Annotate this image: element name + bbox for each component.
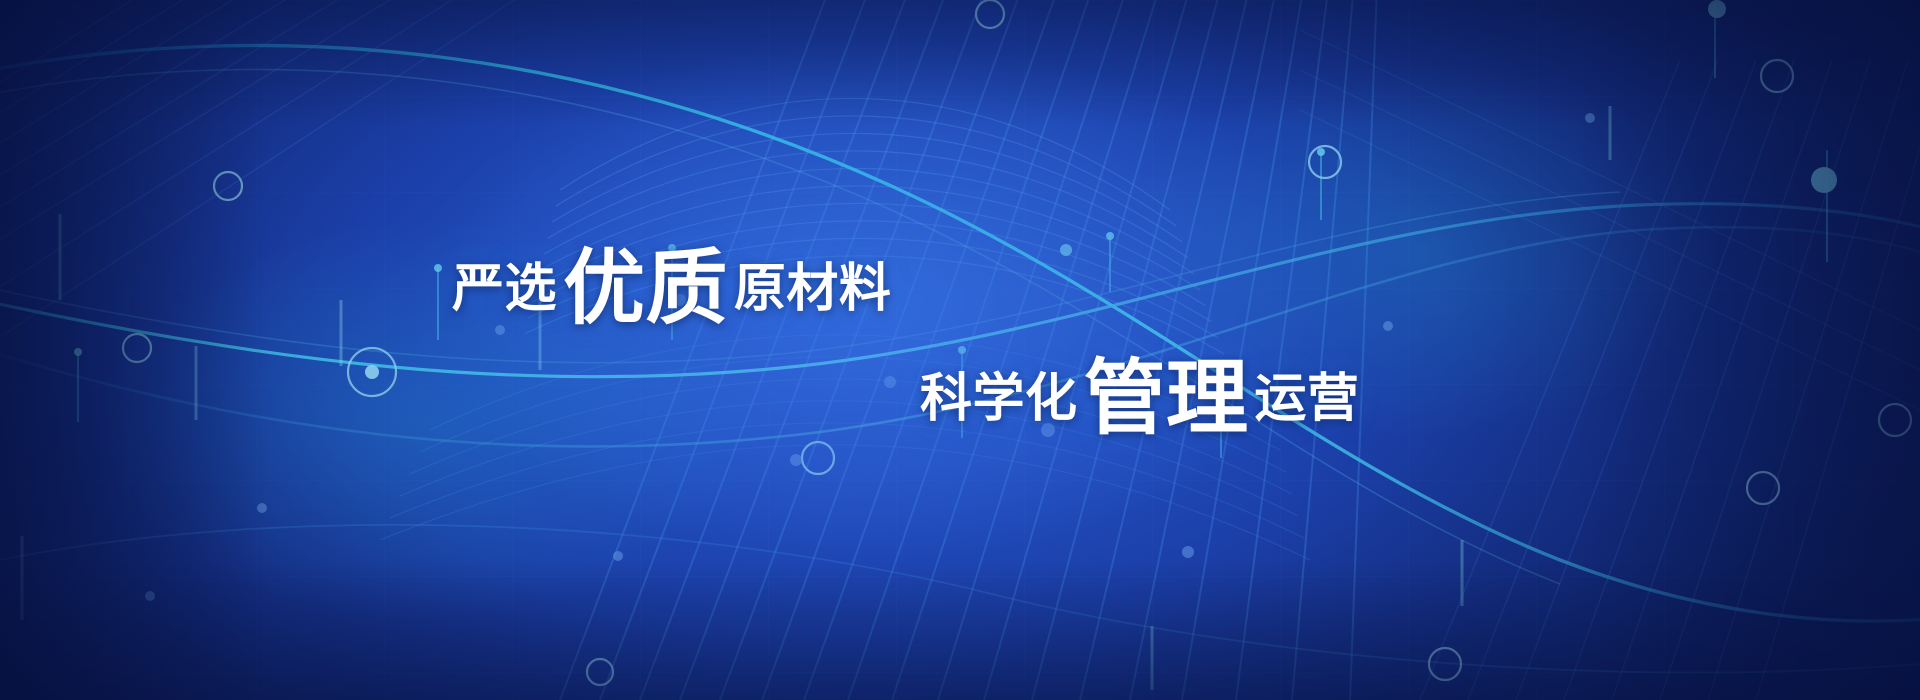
vertical-glint-bars: [0, 0, 1920, 700]
hero-banner: 严选优质原材料 科学化管理运营: [0, 0, 1920, 700]
